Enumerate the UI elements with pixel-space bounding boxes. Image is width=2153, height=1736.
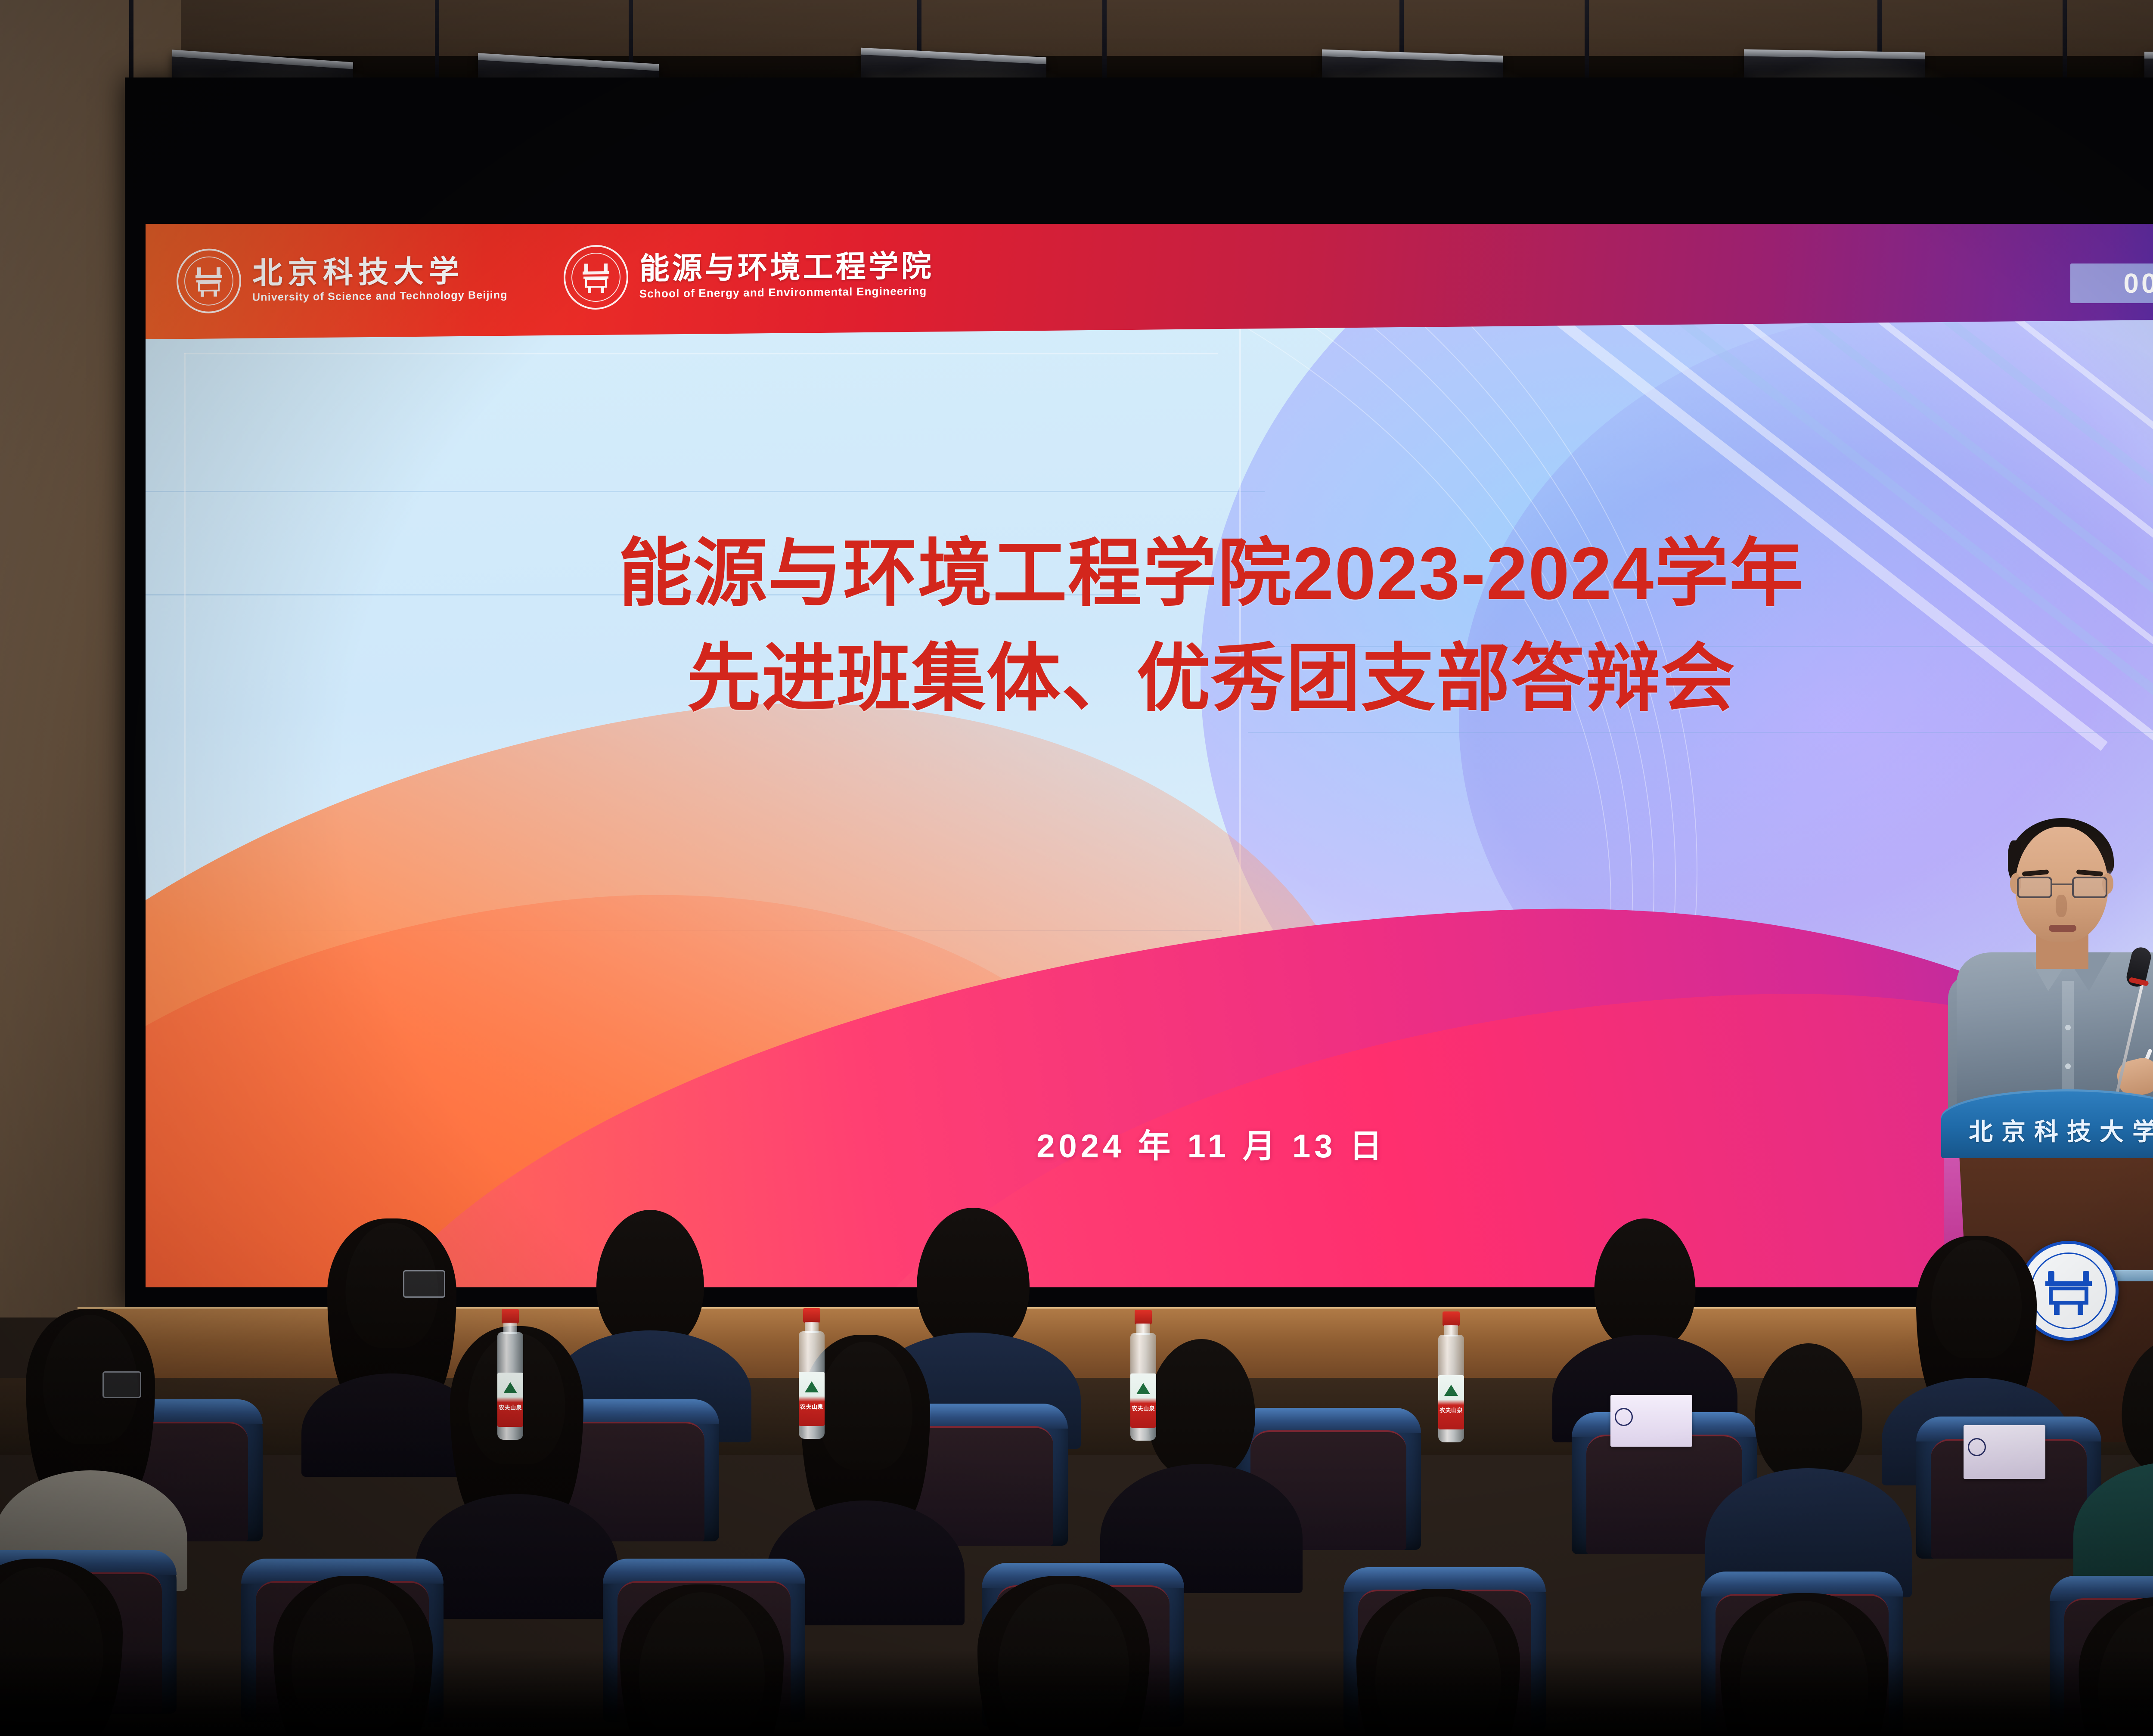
slide-title-line-2: 先进班集体、优秀团支部答辩会: [146, 626, 2153, 731]
eyeglasses-icon: [403, 1270, 445, 1298]
bottle-cap: [803, 1308, 820, 1323]
bottle-brand-cn: 农夫山泉: [1130, 1405, 1156, 1412]
place-name-card: [1610, 1395, 1692, 1447]
audience-member: [1348, 1589, 1529, 1736]
seee-seal-icon: [564, 245, 628, 310]
logo-separator: [508, 278, 533, 278]
school-name-en: School of Energy and Environmental Engin…: [639, 285, 934, 301]
place-name-card: [1964, 1425, 2045, 1479]
bottle-label: 农夫山泉: [1130, 1373, 1156, 1428]
audience-member: [17, 1309, 164, 1550]
bottle-label: 农夫山泉: [497, 1373, 523, 1427]
bottle-label: 农夫山泉: [1438, 1375, 1464, 1429]
school-name-cn: 能源与环境工程学院: [639, 250, 934, 285]
audience-member: [611, 1584, 792, 1736]
bottle-cap: [502, 1309, 519, 1324]
audience-member: [577, 1210, 723, 1425]
audience-area: 农夫山泉 农夫山泉 农夫山泉 农夫山泉: [0, 1317, 2153, 1736]
school-name: 能源与环境工程学院 School of Energy and Environme…: [639, 250, 934, 301]
audience-member: [1714, 1593, 1895, 1736]
slide-header-bar: 北京科技大学 University of Science and Technol…: [146, 224, 2153, 339]
auditorium-scene: 北京科技大学 University of Science and Technol…: [0, 0, 2153, 1736]
audience-member: [973, 1576, 1154, 1736]
bottle-label: 农夫山泉: [799, 1372, 825, 1426]
led-wall-frame: 北京科技大学 University of Science and Technol…: [125, 77, 2153, 1309]
eyeglasses-icon: [102, 1371, 141, 1398]
university-logo-block: 北京科技大学 University of Science and Technol…: [146, 246, 508, 314]
audience-member: [319, 1218, 465, 1434]
audience-member: [2101, 1339, 2153, 1580]
bottle-brand-cn: 农夫山泉: [497, 1404, 523, 1411]
bottle-brand-cn: 农夫山泉: [799, 1404, 825, 1410]
slide-title: 能源与环境工程学院2023-2024学年 先进班集体、优秀团支部答辩会: [146, 521, 2153, 731]
audience-member: [2071, 1597, 2153, 1736]
university-name: 北京科技大学 University of Science and Technol…: [252, 255, 508, 304]
namecard-seal-icon: [1615, 1408, 1633, 1426]
namecard-seal-icon: [1968, 1438, 1986, 1456]
school-logo-block: 能源与环境工程学院 School of Energy and Environme…: [533, 242, 934, 310]
ustb-seal-icon: [177, 248, 241, 313]
bottle-brand-cn: 农夫山泉: [1438, 1407, 1464, 1414]
podium-top: 北京科技大学: [1941, 1089, 2153, 1158]
slide-date: 2024 年 11 月 13 日: [146, 1119, 2153, 1167]
led-screen: 北京科技大学 University of Science and Technol…: [146, 224, 2153, 1287]
audience-member: [1735, 1343, 1882, 1584]
bottle-cap: [1135, 1310, 1152, 1324]
slide-title-line-1: 能源与环境工程学院2023-2024学年: [146, 521, 2153, 626]
university-name-en: University of Science and Technology Bei…: [252, 289, 508, 304]
podium-brand-text: 北京科技大学: [1941, 1113, 2153, 1147]
audience-member: [0, 1559, 129, 1736]
bottle-cap: [1443, 1311, 1460, 1326]
audience-member: [263, 1576, 444, 1736]
university-name-cn: 北京科技大学: [252, 255, 508, 289]
slide-corner-tab: 00: [2070, 263, 2153, 303]
